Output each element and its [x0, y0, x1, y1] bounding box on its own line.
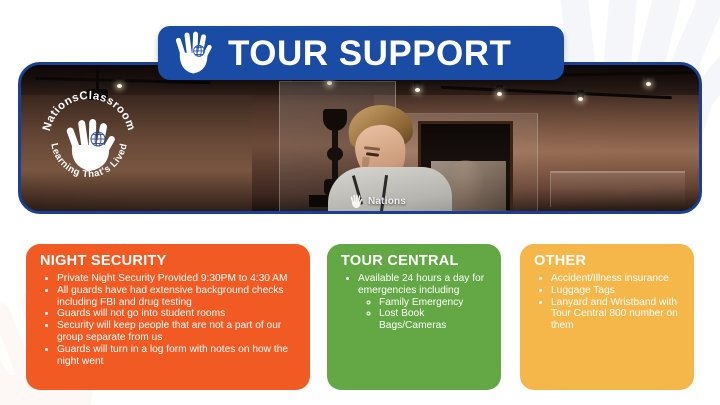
badge-top-arc-text: NationsClassroom [41, 90, 137, 133]
svg-text:NationsClassroom: NationsClassroom [41, 90, 137, 133]
list-item: Accident/Illness insurance [551, 273, 682, 285]
list-item-text: Available 24 hours a day for emergencies… [358, 273, 484, 296]
card-other-title: OTHER [534, 254, 682, 270]
card-tour-central-sublist: Family Emergency Lost Book Bags/Cameras [360, 297, 489, 332]
page-title: TOUR SUPPORT [228, 36, 511, 71]
list-item: Lanyard and Wristband with Tour Central … [551, 297, 682, 332]
sub-list-item: Lost Book Bags/Cameras [379, 308, 489, 332]
card-other-list: Accident/Illness insurance Luggage Tags … [534, 273, 682, 332]
nationsclassroom-badge: NationsClassroom Learning That's Lived [37, 87, 141, 191]
list-item: Guards will not go into student rooms [57, 308, 298, 320]
card-tour-central-title: TOUR CENTRAL [341, 254, 489, 270]
sub-list-item: Family Emergency [379, 297, 489, 309]
card-other: OTHER Accident/Illness insurance Luggage… [520, 244, 694, 390]
list-item: Available 24 hours a day for emergencies… [358, 273, 489, 332]
hand-globe-icon [172, 30, 216, 76]
photo-watermark-text: Nations [368, 196, 406, 207]
title-banner: TOUR SUPPORT [158, 26, 564, 80]
list-item: All guards have had extensive background… [57, 285, 298, 309]
card-night-security: NIGHT SECURITY Private Night Security Pr… [26, 244, 310, 390]
card-tour-central: TOUR CENTRAL Available 24 hours a day fo… [327, 244, 501, 390]
list-item: Luggage Tags [551, 285, 682, 297]
list-item: Private Night Security Provided 9:30PM t… [57, 273, 298, 285]
card-night-security-title: NIGHT SECURITY [40, 254, 298, 270]
list-item: Guards will turn in a log form with note… [57, 344, 298, 368]
slide-canvas: NationsClassroom Learning That's Lived [0, 0, 720, 405]
info-cards: NIGHT SECURITY Private Night Security Pr… [26, 244, 694, 390]
card-tour-central-list: Available 24 hours a day for emergencies… [341, 273, 489, 332]
photo-watermark: Nations [349, 194, 406, 209]
card-night-security-list: Private Night Security Provided 9:30PM t… [40, 273, 298, 368]
hand-icon [349, 194, 364, 209]
list-item: Security will keep people that are not a… [57, 320, 298, 344]
museum-gallery-photo: NationsClassroom Learning That's Lived [21, 65, 699, 211]
hero-photo-frame: NationsClassroom Learning That's Lived [18, 62, 702, 214]
